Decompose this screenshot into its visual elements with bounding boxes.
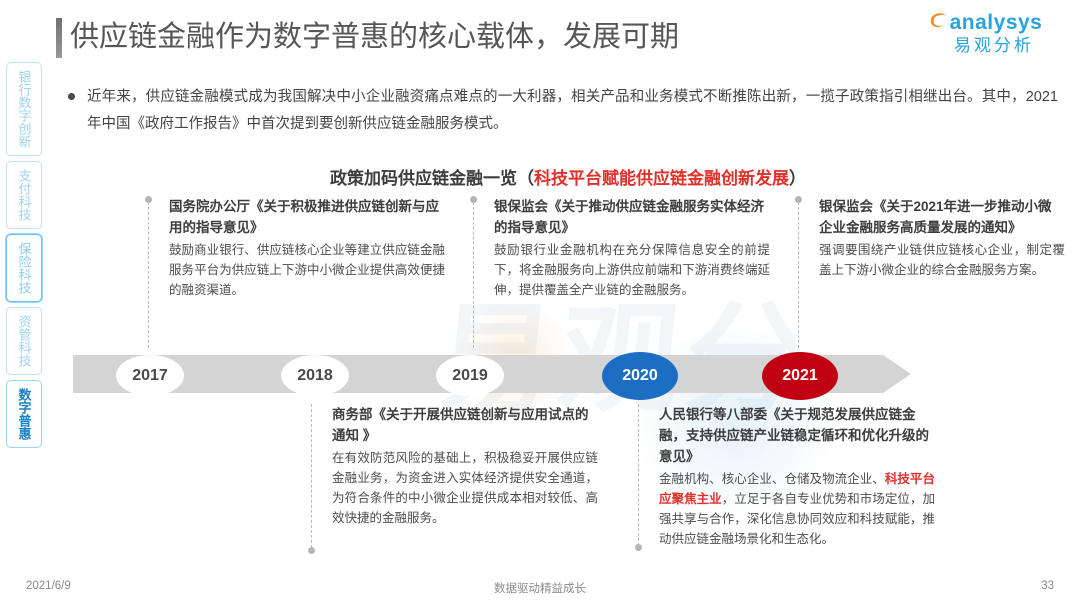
policy-card-2020-title: 人民银行等八部委《关于规范发展供应链金融，支持供应链产业链稳定循环和优化升级的意… (659, 404, 935, 467)
sidebar: 银行数字创新 支付科技 保险科技 资管科技 数字普惠 (6, 62, 42, 448)
connector-line-2020 (638, 404, 639, 551)
timeline-node-2021-label: 2021 (782, 367, 818, 385)
connector-line-2021 (798, 202, 799, 348)
policy-card-2018-body: 在有效防范风险的基础上，积极稳妥开展供应链金融业务，为资金进入实体经济提供安全通… (332, 448, 598, 528)
connector-rail-2018 (308, 404, 315, 554)
policy-card-2021: 银保监会《关于2021年进一步推动小微企业金融服务高质量发展的通知》 强调要围绕… (795, 196, 1065, 348)
footer: 2021/6/9 数据驱动精益成长 33 (0, 580, 1080, 598)
timeline-arrow-icon (883, 355, 911, 393)
policy-card-2017-body: 鼓励商业银行、供应链核心企业等建立供应链金融服务平台为供应链上下游中小微企业提供… (169, 240, 445, 300)
policy-card-2018: 商务部《关于开展供应链创新与应用试点的通知 》 在有效防范风险的基础上，积极稳妥… (308, 404, 598, 554)
connector-line-2019 (473, 202, 474, 348)
bullet-dot-icon (68, 93, 75, 100)
policy-card-2021-body: 强调要围绕产业链供应链核心企业，制定覆盖上下游小微企业的综合金融服务方案。 (819, 240, 1065, 280)
connector-dot-2018 (308, 547, 315, 554)
chart-title-main: 政策加码供应链金融一览（ (330, 169, 534, 188)
policy-card-2020-body: 金融机构、核心企业、仓储及物流企业、科技平台应聚焦主业，立足于各自专业优势和市场… (659, 469, 935, 549)
sidebar-item-asset-tech[interactable]: 资管科技 (6, 307, 42, 375)
policy-card-2020: 人民银行等八部委《关于规范发展供应链金融，支持供应链产业链稳定循环和优化升级的意… (635, 404, 935, 569)
chart-title-tail: ） (789, 169, 806, 188)
policy-card-2019: 银保监会《关于推动供应链金融服务实体经济的指导意见》 鼓励银行业金融机构在充分保… (470, 196, 770, 348)
brand-logo: analysys 易观分析 (930, 12, 1058, 64)
chart-title-highlight: 科技平台赋能供应链金融创新发展 (534, 169, 789, 188)
connector-rail-2019 (470, 196, 477, 348)
page-title: 供应链金融作为数字普惠的核心载体，发展可期 (70, 17, 679, 57)
timeline-node-2018-label: 2018 (297, 367, 333, 385)
timeline-node-2019-label: 2019 (452, 367, 488, 385)
logo-en-label: analysys (950, 11, 1043, 34)
logo-cn-label: 易观分析 (930, 35, 1058, 57)
sidebar-item-bank-digital[interactable]: 银行数字创新 (6, 62, 42, 156)
sidebar-item-insurance-tech[interactable]: 保险科技 (6, 234, 42, 302)
timeline-node-2021[interactable]: 2021 (762, 352, 838, 400)
policy-card-2019-title: 银保监会《关于推动供应链金融服务实体经济的指导意见》 (494, 196, 770, 238)
connector-line-2018 (311, 404, 312, 548)
bullet-paragraph: 近年来，供应链金融模式成为我国解决中小企业融资痛点难点的一大利器，相关产品和业务… (68, 84, 1058, 138)
policy-card-2017-title: 国务院办公厅《关于积极推进供应链创新与应用的指导意见》 (169, 196, 445, 238)
sidebar-item-payment-tech[interactable]: 支付科技 (6, 161, 42, 229)
connector-rail-2017 (145, 196, 152, 348)
swirl-icon (928, 10, 950, 32)
footer-slogan: 数据驱动精益成长 (0, 580, 1080, 596)
timeline-node-2018[interactable]: 2018 (281, 355, 349, 396)
timeline-node-2019[interactable]: 2019 (436, 355, 504, 396)
policy-card-2018-title: 商务部《关于开展供应链创新与应用试点的通知 》 (332, 404, 598, 446)
connector-rail-2021 (795, 196, 802, 348)
connector-rail-2020 (635, 404, 642, 569)
connector-line-2017 (148, 202, 149, 348)
policy-card-2017: 国务院办公厅《关于积极推进供应链创新与应用的指导意见》 鼓励商业银行、供应链核心… (145, 196, 445, 348)
timeline-node-2020-label: 2020 (622, 367, 658, 385)
policy-card-2021-title: 银保监会《关于2021年进一步推动小微企业金融服务高质量发展的通知》 (819, 196, 1065, 238)
timeline-node-2020[interactable]: 2020 (602, 352, 678, 400)
timeline-node-2017-label: 2017 (132, 367, 168, 385)
slide-canvas: 易观分析 银行数字创新 支付科技 保险科技 资管科技 数字普惠 供应链金融作为数… (0, 0, 1080, 608)
timeline-node-2017[interactable]: 2017 (116, 355, 184, 396)
chart-title: 政策加码供应链金融一览（科技平台赋能供应链金融创新发展） (330, 164, 806, 189)
footer-page-number: 33 (1041, 580, 1054, 592)
bullet-text: 近年来，供应链金融模式成为我国解决中小企业融资痛点难点的一大利器，相关产品和业务… (87, 84, 1058, 138)
policy-card-2019-body: 鼓励银行业金融机构在充分保障信息安全的前提下，将金融服务向上游供应前端和下游消费… (494, 240, 770, 300)
logo-text-en: analysys (930, 12, 1058, 34)
sidebar-item-digital-inclusive[interactable]: 数字普惠 (6, 380, 42, 448)
policy-card-2020-body-pre: 金融机构、核心企业、仓储及物流企业、 (659, 472, 885, 486)
title-accent-bar (56, 18, 62, 58)
